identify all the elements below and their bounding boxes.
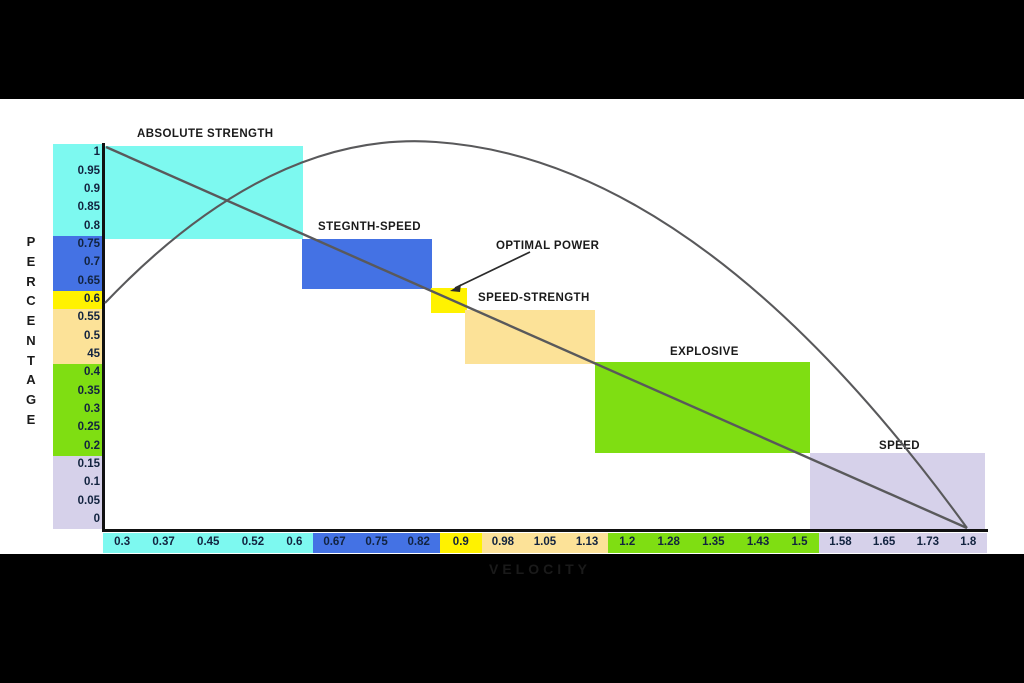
y-axis-tick-label: 0.2 [54, 441, 100, 453]
y-axis-tick-label: 0.6 [54, 294, 100, 306]
x-axis-tick-label: 0.9 [440, 537, 482, 549]
x-axis-tick-label: 1.35 [691, 537, 736, 549]
y-axis-title-letter: T [18, 351, 44, 371]
zone-label-speed: SPEED [879, 440, 920, 452]
y-axis-title-letter: G [18, 390, 44, 410]
x-axis-line [102, 529, 988, 532]
zone-box-optimal-power-marker [431, 288, 467, 313]
x-axis-band: 0.30.370.450.520.6 [103, 533, 313, 553]
x-axis-tick-label: 0.6 [275, 537, 313, 549]
x-axis-tick-label: 0.37 [141, 537, 186, 549]
y-axis-title-letter: P [18, 232, 44, 252]
y-axis-tick-label: 0.3 [54, 404, 100, 416]
zone-label-speed-strength: SPEED-STRENGTH [478, 292, 590, 304]
x-axis-tick-label: 0.52 [231, 537, 276, 549]
y-axis-title-letter: C [18, 291, 44, 311]
zone-box-explosive [595, 362, 810, 453]
x-axis-band: 1.581.651.731.8 [819, 533, 987, 553]
x-axis-tick-label: 1.05 [524, 537, 566, 549]
x-axis-tick-label: 0.82 [398, 537, 440, 549]
zone-label-stegnth-speed: STEGNTH-SPEED [318, 221, 421, 233]
y-axis-tick-label: 1 [54, 147, 100, 159]
y-axis-tick-label: 0.65 [54, 276, 100, 288]
x-axis-tick-label: 0.3 [103, 537, 141, 549]
zone-label-explosive: EXPLOSIVE [670, 346, 739, 358]
y-axis-tick-label: 0.05 [54, 496, 100, 508]
x-axis-band-row: 0.30.370.450.520.60.670.750.820.90.981.0… [103, 533, 987, 553]
y-axis-tick-label: 0.85 [54, 202, 100, 214]
x-axis-band: 0.670.750.82 [313, 533, 439, 553]
y-axis-title: PERCENTAGE [18, 232, 44, 430]
y-axis-tick-label: 0.1 [54, 477, 100, 489]
zone-box-absolute-strength [105, 146, 303, 239]
y-axis-tick-label: 0.25 [54, 422, 100, 434]
y-axis-band-column: 10.950.90.850.80.750.70.650.60.550.5450.… [53, 144, 103, 529]
x-axis-tick-label: 1.43 [736, 537, 781, 549]
y-axis-tick-label: 0.55 [54, 312, 100, 324]
annotation-optimal-power-label: OPTIMAL POWER [496, 240, 599, 252]
y-axis-tick-label: 0 [54, 514, 100, 526]
y-axis-tick-label: 0.4 [54, 367, 100, 379]
y-axis-tick-label: 0.5 [54, 331, 100, 343]
y-axis-tick-label: 0.8 [54, 221, 100, 233]
y-axis-title-letter: E [18, 410, 44, 430]
zone-box-speed-strength [465, 310, 595, 364]
x-axis-tick-label: 1.58 [819, 537, 863, 549]
y-axis-title-letter: E [18, 311, 44, 331]
y-axis-title-letter: N [18, 331, 44, 351]
y-axis-tick-label: 0.15 [54, 459, 100, 471]
zone-box-speed [810, 453, 985, 529]
y-axis-title-letter: E [18, 252, 44, 272]
x-axis-tick-label: 0.67 [313, 537, 355, 549]
zone-box-stegnth-speed [302, 239, 432, 289]
y-axis-tick-label: 0.35 [54, 386, 100, 398]
y-axis-tick-label: 45 [54, 349, 100, 361]
y-axis-title-letter: A [18, 370, 44, 390]
x-axis-tick-label: 0.45 [186, 537, 231, 549]
x-axis-tick-label: 1.5 [780, 537, 818, 549]
x-axis-tick-label: 1.8 [950, 537, 987, 549]
x-axis-tick-label: 1.2 [608, 537, 646, 549]
screenshot-stage: PERCENTAGE 10.950.90.850.80.750.70.650.6… [0, 0, 1024, 683]
x-axis-title: VELOCITY [400, 561, 680, 577]
x-axis-tick-label: 1.13 [566, 537, 608, 549]
zone-label-absolute-strength: ABSOLUTE STRENGTH [137, 128, 274, 140]
y-axis-title-letter: R [18, 272, 44, 292]
y-axis-tick-label: 0.9 [54, 184, 100, 196]
x-axis-tick-label: 0.75 [356, 537, 398, 549]
y-axis-tick-label: 0.95 [54, 166, 100, 178]
x-axis-band: 0.981.051.13 [482, 533, 608, 553]
y-axis-tick-label: 0.7 [54, 257, 100, 269]
y-axis-tick-label: 0.75 [54, 239, 100, 251]
x-axis-tick-label: 0.98 [482, 537, 524, 549]
x-axis-band: 1.21.281.351.431.5 [608, 533, 818, 553]
x-axis-band: 0.9 [440, 533, 482, 553]
x-axis-tick-label: 1.73 [906, 537, 950, 549]
x-axis-tick-label: 1.28 [646, 537, 691, 549]
x-axis-tick-label: 1.65 [862, 537, 906, 549]
